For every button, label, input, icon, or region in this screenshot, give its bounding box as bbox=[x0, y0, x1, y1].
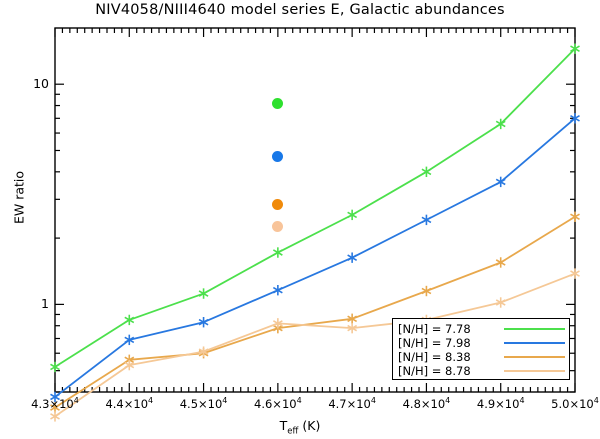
legend-entry-1: [N/H] = 7.98 bbox=[398, 336, 565, 350]
legend-line-1 bbox=[504, 342, 565, 344]
x-tick-label-4: 4.7×104 bbox=[317, 396, 387, 411]
x-tick-mantissa: 5.0×10 bbox=[551, 397, 594, 411]
legend-label-3: [N/H] = 8.78 bbox=[398, 364, 502, 378]
series-0-marker-4 bbox=[348, 210, 357, 220]
x-tick-mantissa: 4.5×10 bbox=[180, 397, 223, 411]
x-tick-exponent: 4 bbox=[74, 396, 79, 405]
series-1-marker-4 bbox=[348, 252, 357, 262]
legend-label-2: [N/H] = 8.38 bbox=[398, 350, 502, 364]
legend-entry-2: [N/H] = 8.38 bbox=[398, 350, 565, 364]
x-tick-label-7: 5.0×104 bbox=[540, 396, 600, 411]
x-tick-exponent: 4 bbox=[594, 396, 599, 405]
x-tick-exponent: 4 bbox=[519, 396, 524, 405]
x-tick-mantissa: 4.8×10 bbox=[403, 397, 446, 411]
x-tick-label-2: 4.5×104 bbox=[169, 396, 239, 411]
legend-label-0: [N/H] = 7.78 bbox=[398, 322, 502, 336]
x-tick-exponent: 4 bbox=[222, 396, 227, 405]
x-tick-mantissa: 4.4×10 bbox=[105, 397, 148, 411]
x-tick-label-3: 4.6×104 bbox=[243, 396, 313, 411]
series-2-marker-6 bbox=[496, 257, 505, 267]
y-axis-label: EW ratio bbox=[12, 153, 27, 243]
x-tick-exponent: 4 bbox=[148, 396, 153, 405]
series-1-marker-3 bbox=[273, 285, 282, 295]
series-0-marker-1 bbox=[125, 315, 134, 325]
series-0-marker-5 bbox=[422, 167, 431, 177]
legend: [N/H] = 7.78 [N/H] = 7.98 [N/H] = 8.38 [… bbox=[392, 318, 570, 380]
x-tick-mantissa: 4.9×10 bbox=[477, 397, 520, 411]
y-tick-label-1: 10 bbox=[5, 76, 49, 91]
legend-line-3 bbox=[504, 370, 565, 372]
series-2-marker-5 bbox=[422, 286, 431, 296]
series-0-marker-2 bbox=[199, 288, 208, 298]
legend-entry-0: [N/H] = 7.78 bbox=[398, 322, 565, 336]
x-axis-label-unit: (K) bbox=[302, 418, 320, 433]
x-tick-exponent: 4 bbox=[445, 396, 450, 405]
series-0-marker-3 bbox=[273, 247, 282, 257]
x-tick-label-0: 4.3×104 bbox=[20, 396, 90, 411]
series-1-marker-5 bbox=[422, 215, 431, 225]
x-tick-label-6: 4.9×104 bbox=[466, 396, 536, 411]
figure: NIV4058/NIII4640 model series E, Galacti… bbox=[0, 0, 600, 439]
x-tick-label-1: 4.4×104 bbox=[94, 396, 164, 411]
x-axis-label-sub: eff bbox=[287, 427, 298, 437]
legend-line-0 bbox=[504, 328, 565, 330]
observed-7.78 bbox=[272, 98, 283, 109]
legend-line-2 bbox=[504, 356, 565, 358]
x-tick-exponent: 4 bbox=[297, 396, 302, 405]
x-tick-mantissa: 4.7×10 bbox=[328, 397, 371, 411]
series-3-marker-7 bbox=[570, 268, 579, 278]
series-2-marker-7 bbox=[570, 212, 579, 222]
x-axis-label: Teff (K) bbox=[0, 418, 600, 437]
x-tick-mantissa: 4.6×10 bbox=[254, 397, 297, 411]
x-tick-exponent: 4 bbox=[371, 396, 376, 405]
legend-entry-3: [N/H] = 8.78 bbox=[398, 364, 565, 378]
y-tick-label-0: 1 bbox=[5, 296, 49, 311]
legend-label-1: [N/H] = 7.98 bbox=[398, 336, 502, 350]
x-tick-mantissa: 4.3×10 bbox=[31, 397, 74, 411]
x-tick-label-5: 4.8×104 bbox=[391, 396, 461, 411]
